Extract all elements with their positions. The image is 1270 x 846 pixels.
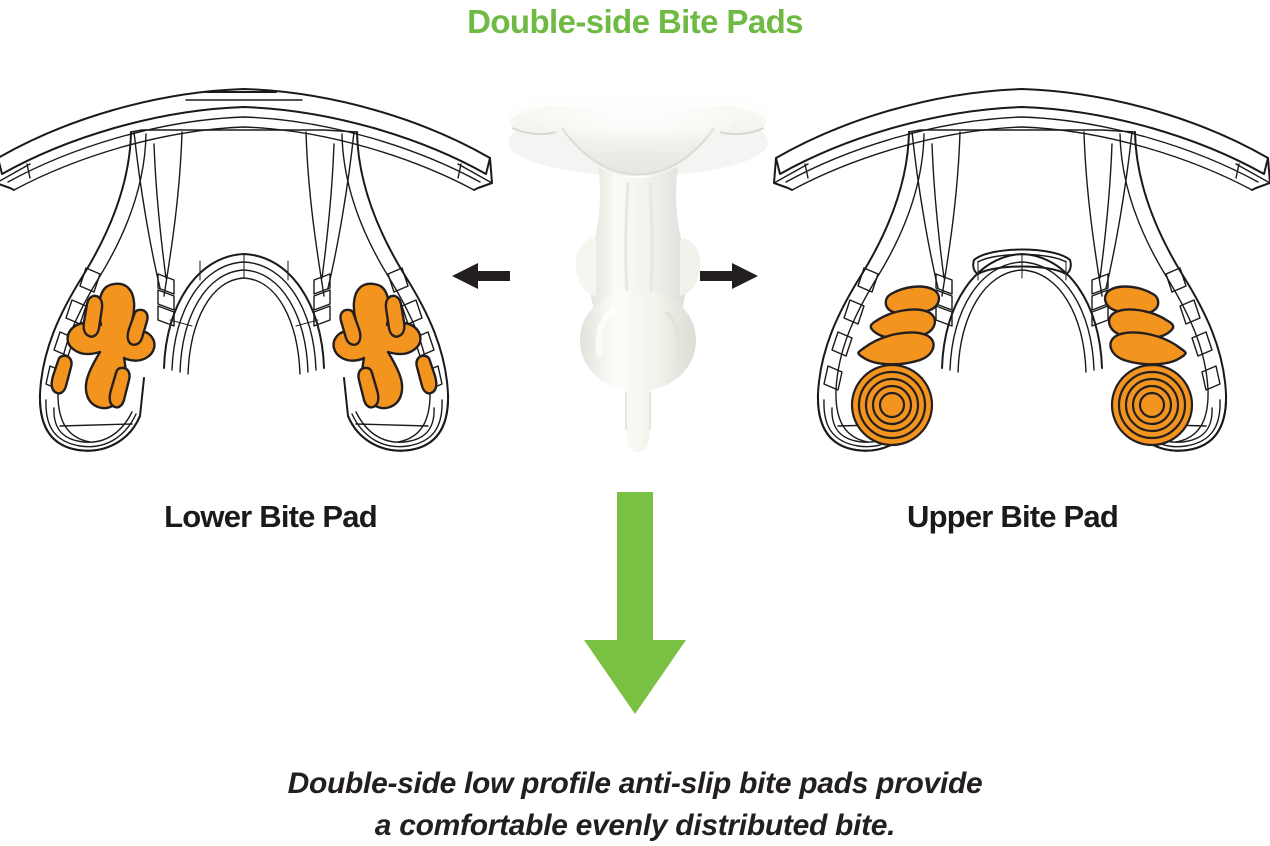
upper-pad-rings-right (1112, 365, 1192, 445)
caption-line-2: a comfortable evenly distributed bite. (0, 805, 1270, 846)
arrow-left-icon (452, 258, 510, 294)
arrow-right-icon (700, 258, 758, 294)
page-title: Double-side Bite Pads (0, 2, 1270, 42)
upper-bite-pad-label: Upper Bite Pad (790, 498, 1235, 536)
lower-bite-pad-diagram (0, 78, 494, 468)
arrow-left-glyph (452, 258, 510, 294)
lip-guard-bar (774, 89, 1270, 190)
caption-block: Double-side low profile anti-slip bite p… (0, 763, 1270, 846)
upper-pad-bars-left (858, 287, 939, 365)
arrow-down-glyph (578, 492, 692, 714)
caption-line-1: Double-side low profile anti-slip bite p… (0, 763, 1270, 805)
lower-bite-pad-illustration (0, 78, 494, 468)
photo-bulb (580, 290, 696, 452)
lower-bite-pad-label: Lower Bite Pad (48, 498, 493, 536)
upper-pad-rings-left (852, 365, 932, 445)
arrow-down-icon (578, 492, 692, 714)
lip-guard-bar (0, 89, 492, 190)
arrow-right-glyph (700, 258, 758, 294)
upper-bite-pad-diagram (772, 78, 1270, 468)
infographic-page: Double-side Bite Pads (0, 0, 1270, 846)
inner-arch (942, 254, 1102, 372)
upper-bite-pad-illustration (772, 78, 1270, 468)
upper-pad-bars-right (1105, 287, 1186, 365)
inner-arch (164, 254, 324, 374)
